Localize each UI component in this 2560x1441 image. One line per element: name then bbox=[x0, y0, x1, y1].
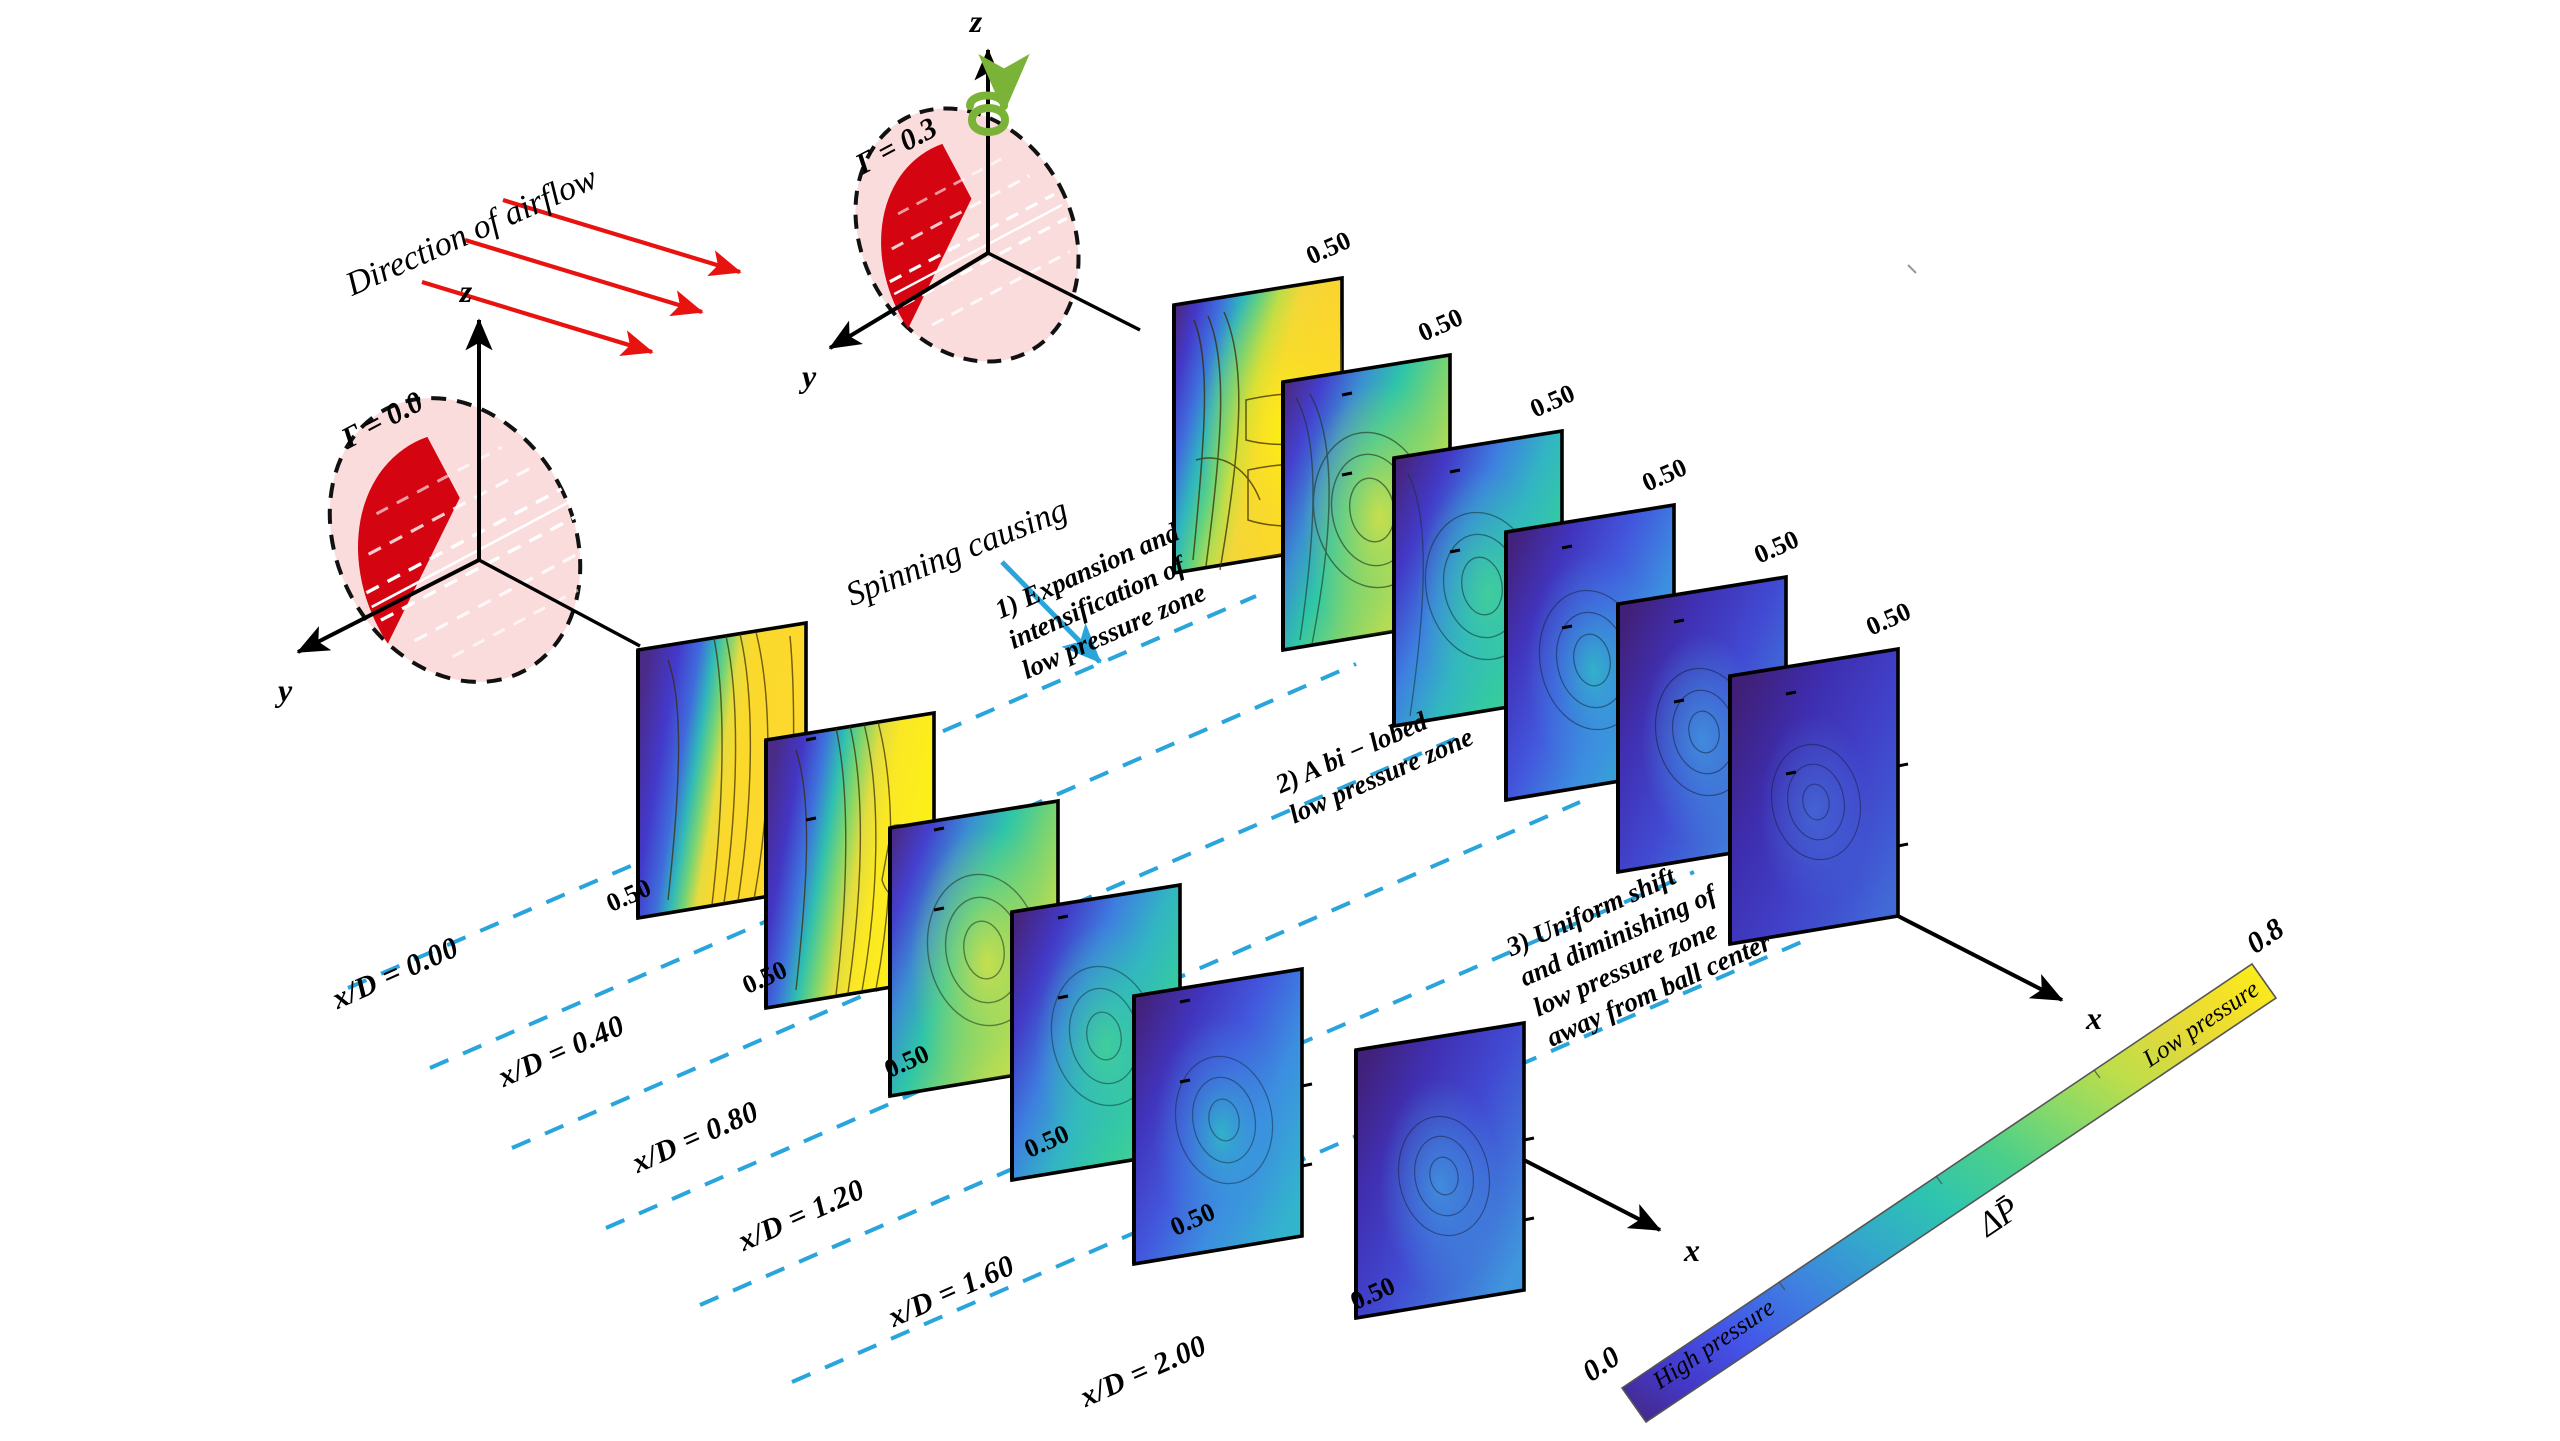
x-axis-label-top-row: x bbox=[2086, 1000, 2102, 1037]
ball-outline-spinning bbox=[812, 69, 1121, 401]
y-axis-label-no-spin: y bbox=[278, 672, 292, 709]
x-axis-bottom-row bbox=[1524, 1160, 1660, 1230]
ball-spinning bbox=[812, 50, 1140, 401]
z-axis-label-spinning: z bbox=[970, 3, 982, 40]
ball-outline-no-spin bbox=[281, 354, 628, 726]
y-axis-label-spinning: y bbox=[802, 358, 816, 395]
x-axis-label-bottom-row: x bbox=[1684, 1232, 1700, 1269]
ball-no-spin bbox=[281, 320, 640, 726]
figure-canvas: Direction of airflow Spinning causing Γ … bbox=[0, 0, 2560, 1441]
stray-mark bbox=[1908, 265, 1916, 273]
z-axis-label-no-spin: z bbox=[460, 273, 472, 310]
figure-svg bbox=[0, 0, 2560, 1441]
x-axis-top-row bbox=[1898, 916, 2062, 1000]
slice-top-6 bbox=[1730, 649, 1898, 944]
